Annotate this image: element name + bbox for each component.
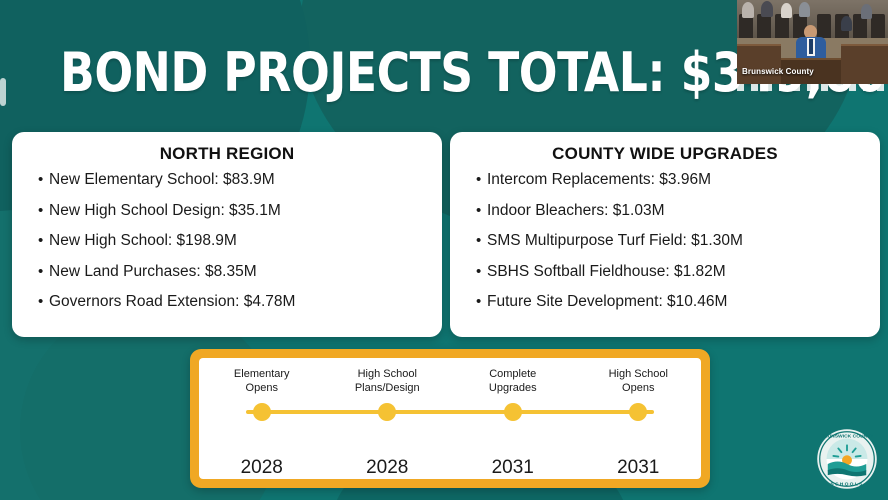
card-north-region: NORTH REGION •New Elementary School: $83… [12, 132, 442, 337]
webcam-desk-right [841, 44, 888, 84]
bullet-icon: • [476, 172, 487, 187]
county-wide-list-item: •SBHS Softball Fieldhouse: $1.82M [476, 264, 880, 280]
timeline-milestone-year: 2031 [617, 457, 659, 479]
timeline-milestone: Elementary Opens2028 [199, 358, 325, 479]
county-wide-list-item-label: Future Site Development: $10.46M [487, 293, 727, 310]
webcam-bottom-dashes [737, 84, 888, 91]
timeline-milestone-dot [378, 403, 396, 421]
county-wide-list-item: •Future Site Development: $10.46M [476, 294, 880, 310]
timeline-items: Elementary Opens2028High School Plans/De… [199, 358, 701, 479]
timeline-milestone: High School Opens2031 [576, 358, 702, 479]
timeline-milestone-dot [504, 403, 522, 421]
left-edge-marker [0, 78, 6, 106]
north-region-list-item: •Governors Road Extension: $4.78M [38, 294, 442, 310]
webcam-participant-label: Brunswick County [742, 67, 814, 76]
webcam-video-overlay[interactable]: Brunswick County [737, 0, 888, 84]
bullet-icon: • [38, 294, 49, 309]
timeline-milestone-label: High School Plans/Design [355, 367, 420, 395]
county-wide-list-item-label: SMS Multipurpose Turf Field: $1.30M [487, 232, 743, 249]
bullet-icon: • [38, 264, 49, 279]
timeline-milestone-label: High School Opens [609, 367, 668, 395]
county-wide-list-item: •Intercom Replacements: $3.96M [476, 172, 880, 188]
logo-lower-text: SCHOOLS [830, 482, 863, 488]
north-region-list-item: •New Elementary School: $83.9M [38, 172, 442, 188]
bullet-icon: • [38, 233, 49, 248]
north-region-list-item-label: Governors Road Extension: $4.78M [49, 293, 295, 310]
timeline-milestone-label: Complete Upgrades [489, 367, 537, 395]
timeline-milestone-label: Elementary Opens [234, 367, 290, 395]
card-north-region-list: •New Elementary School: $83.9M•New High … [12, 172, 442, 310]
county-wide-list-item: •SMS Multipurpose Turf Field: $1.30M [476, 233, 880, 249]
timeline-milestone: Complete Upgrades2031 [450, 358, 576, 479]
card-county-wide-upgrades-list: •Intercom Replacements: $3.96M•Indoor Bl… [450, 172, 880, 310]
timeline-milestone: High School Plans/Design2028 [325, 358, 451, 479]
county-wide-list-item-label: SBHS Softball Fieldhouse: $1.82M [487, 263, 726, 280]
timeline-milestone-dot [253, 403, 271, 421]
brunswick-county-schools-logo: BRUNSWICK COUNTY SCHOOLS [816, 428, 878, 490]
presentation-slide: BOND PROJECTS TOTAL: $349,600,000.00 NOR… [0, 0, 888, 500]
timeline-inner: Elementary Opens2028High School Plans/De… [199, 358, 701, 479]
card-north-region-title: NORTH REGION [12, 144, 442, 164]
bullet-icon: • [38, 203, 49, 218]
north-region-list-item-label: New Elementary School: $83.9M [49, 171, 275, 188]
north-region-list-item-label: New High School: $198.9M [49, 232, 237, 249]
bullet-icon: • [476, 233, 487, 248]
card-county-wide-upgrades-title: COUNTY WIDE UPGRADES [450, 144, 880, 164]
timeline-milestone-year: 2031 [492, 457, 534, 479]
bullet-icon: • [476, 264, 487, 279]
card-county-wide-upgrades: COUNTY WIDE UPGRADES •Intercom Replaceme… [450, 132, 880, 337]
north-region-list-item: •New High School: $198.9M [38, 233, 442, 249]
north-region-list-item: •New High School Design: $35.1M [38, 203, 442, 219]
north-region-list-item-label: New High School Design: $35.1M [49, 202, 281, 219]
bullet-icon: • [476, 203, 487, 218]
webcam-speaker-tie [809, 39, 813, 54]
timeline-milestone-year: 2028 [366, 457, 408, 479]
county-wide-list-item-label: Intercom Replacements: $3.96M [487, 171, 711, 188]
north-region-list-item: •New Land Purchases: $8.35M [38, 264, 442, 280]
webcam-desk-left [737, 44, 781, 84]
county-wide-list-item: •Indoor Bleachers: $1.03M [476, 203, 880, 219]
bullet-icon: • [38, 172, 49, 187]
timeline-milestone-dot [629, 403, 647, 421]
logo-outer-text: BRUNSWICK COUNTY [820, 433, 874, 439]
bullet-icon: • [476, 294, 487, 309]
timeline-milestone-year: 2028 [241, 457, 283, 479]
timeline-panel: Elementary Opens2028High School Plans/De… [190, 349, 710, 488]
north-region-list-item-label: New Land Purchases: $8.35M [49, 263, 257, 280]
county-wide-list-item-label: Indoor Bleachers: $1.03M [487, 202, 665, 219]
